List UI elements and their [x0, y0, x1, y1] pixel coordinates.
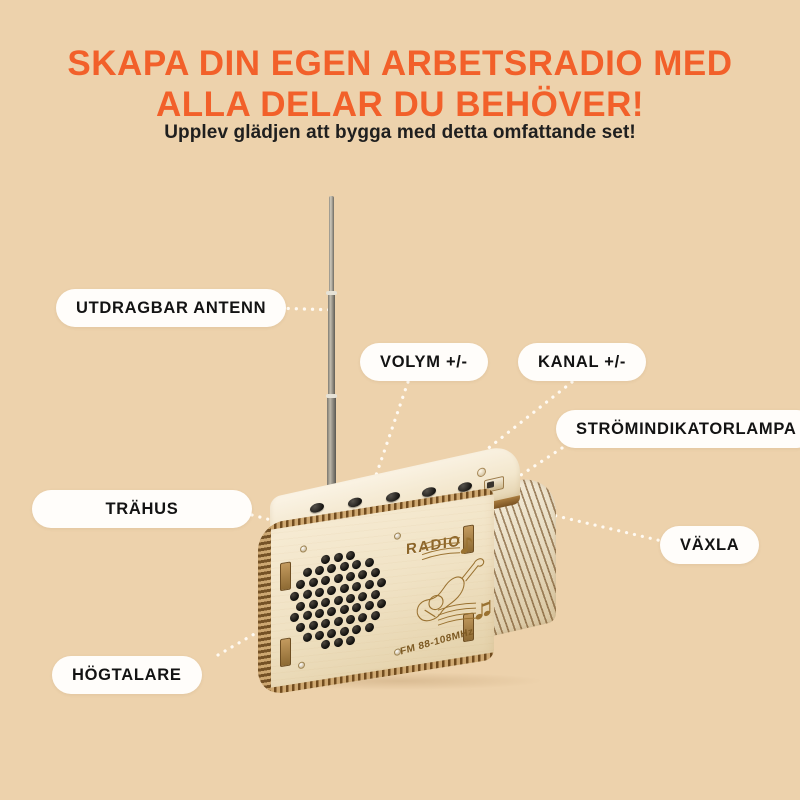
speaker-hole	[358, 569, 367, 579]
speaker-grille	[286, 540, 390, 660]
power-indicator-led	[477, 467, 486, 478]
speaker-hole	[346, 571, 355, 581]
speaker-hole	[303, 589, 312, 599]
callout-vaxla[interactable]: VÄXLA	[660, 526, 759, 564]
page-title: SKAPA DIN EGEN ARBETSRADIO MED ALLA DELA…	[0, 44, 800, 125]
leader-line-switch	[540, 512, 666, 542]
speaker-hole	[365, 622, 374, 632]
speaker-hole	[290, 612, 299, 622]
speaker-hole	[365, 558, 374, 568]
speaker-hole	[352, 560, 361, 570]
headline-line-1: SKAPA DIN EGEN ARBETSRADIO MED	[0, 44, 800, 85]
speaker-hole	[358, 591, 367, 601]
speaker-hole	[327, 628, 336, 638]
speaker-hole	[358, 612, 367, 622]
speaker-hole	[315, 566, 324, 576]
radio-housing: V+ CH PWR RADIO	[252, 478, 552, 686]
callout-label: KANAL +/-	[538, 353, 626, 372]
speaker-hole	[340, 626, 349, 636]
speaker-hole	[334, 616, 343, 626]
speaker-hole	[352, 603, 361, 613]
callout-hogtalare[interactable]: HÖGTALARE	[52, 656, 202, 694]
callout-trahus[interactable]: TRÄHUS	[32, 490, 252, 528]
callout-volym[interactable]: VOLYM +/-	[360, 343, 488, 381]
callout-kanal[interactable]: KANAL +/-	[518, 343, 646, 381]
button-power	[310, 502, 324, 514]
front-face-panel: RADIO FM 88-108MHz	[258, 487, 494, 696]
radio-product-illustration: V+ CH PWR RADIO	[252, 196, 552, 686]
speaker-hole	[296, 622, 305, 632]
callout-label: UTDRAGBAR ANTENN	[76, 299, 266, 318]
button-volume-up	[348, 496, 362, 508]
callout-utdragbar-antenn[interactable]: UTDRAGBAR ANTENN	[56, 289, 286, 327]
speaker-hole	[309, 620, 318, 630]
speaker-hole	[309, 599, 318, 609]
speaker-hole	[303, 610, 312, 620]
speaker-hole	[315, 630, 324, 640]
speaker-hole	[346, 593, 355, 603]
speaker-hole	[315, 587, 324, 597]
speaker-hole	[377, 599, 386, 609]
callout-label: VOLYM +/-	[380, 353, 468, 372]
speaker-hole	[327, 564, 336, 574]
speaker-hole	[352, 581, 361, 591]
speaker-hole	[340, 583, 349, 593]
speaker-hole	[371, 567, 380, 577]
speaker-hole	[346, 550, 355, 560]
callout-label: HÖGTALARE	[72, 666, 182, 685]
speaker-hole	[321, 575, 330, 585]
speaker-hole	[321, 597, 330, 607]
speaker-hole	[321, 554, 330, 564]
speaker-hole	[377, 577, 386, 587]
speaker-hole	[321, 618, 330, 628]
speaker-hole	[371, 610, 380, 620]
speaker-hole	[365, 601, 374, 611]
speaker-hole	[334, 638, 343, 648]
speaker-hole	[327, 585, 336, 595]
telescopic-antenna	[314, 196, 354, 496]
speaker-hole	[346, 614, 355, 624]
poster-canvas: SKAPA DIN EGEN ARBETSRADIO MED ALLA DELA…	[0, 0, 800, 800]
speaker-hole	[321, 640, 330, 650]
speaker-hole	[340, 605, 349, 615]
speaker-hole	[340, 562, 349, 572]
speaker-hole	[352, 624, 361, 634]
speaker-hole	[303, 632, 312, 642]
speaker-hole	[346, 636, 355, 646]
speaker-hole	[371, 589, 380, 599]
callout-label: STRÖMINDIKATORLAMPA	[576, 420, 796, 439]
speaker-hole	[315, 608, 324, 618]
speaker-hole	[365, 579, 374, 589]
speaker-hole	[334, 573, 343, 583]
speaker-hole	[296, 601, 305, 611]
callout-label: VÄXLA	[680, 536, 739, 555]
button-volume-down	[386, 491, 400, 503]
callout-label: TRÄHUS	[106, 500, 179, 519]
speaker-hole	[327, 607, 336, 617]
speaker-hole	[290, 591, 299, 601]
speaker-hole	[303, 567, 312, 577]
callout-stromindikatorlampa[interactable]: STRÖMINDIKATORLAMPA	[556, 410, 800, 448]
page-subtitle: Upplev glädjen att bygga med detta omfat…	[0, 122, 800, 144]
speaker-hole	[334, 595, 343, 605]
speaker-hole	[309, 577, 318, 587]
speaker-hole	[334, 552, 343, 562]
speaker-hole	[296, 579, 305, 589]
headline-line-2: ALLA DELAR DU BEHÖVER!	[0, 85, 800, 126]
